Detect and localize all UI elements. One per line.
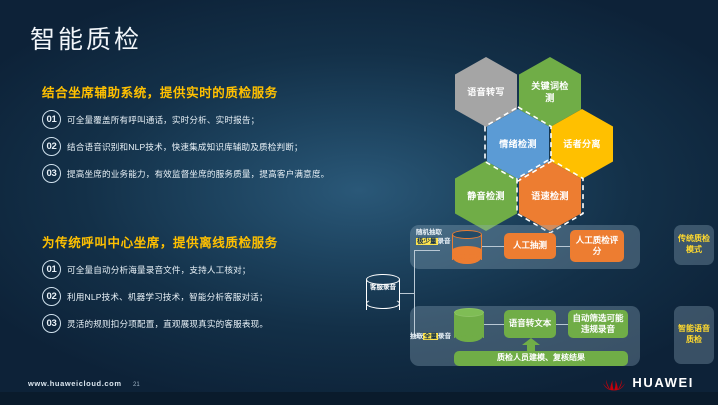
caption-prefix: 抽取 (410, 333, 423, 340)
caption-suffix: 录音 (438, 333, 451, 340)
bullet-item: 01 可全量覆盖所有呼叫通话，实时分析、实时报告； (42, 110, 372, 129)
connector-to-traditional (414, 250, 440, 251)
bullet-text: 灵活的规则扣分项配置，直观展现真实的客服表现。 (67, 318, 268, 330)
cylinder-outline (452, 230, 482, 264)
huawei-flower-icon (603, 374, 625, 391)
footer-url[interactable]: www.huaweicloud.com (28, 379, 122, 388)
bullet-number: 01 (42, 110, 61, 129)
hexagon-label: 关键词检测 (531, 80, 569, 104)
slide-root: 智能质检 结合坐席辅助系统，提供实时的质检服务 01 可全量覆盖所有呼叫通话，实… (0, 0, 718, 405)
bullet-number: 01 (42, 260, 61, 279)
bullet-text: 可全量覆盖所有呼叫通话，实时分析、实时报告； (67, 114, 259, 126)
bullet-text: 结合语音识别和NLP技术，快速集成知识库辅助及质检判断； (67, 141, 303, 153)
bullet-item: 03 提高坐席的业务能力，有效监督坐席的服务质量，提高客户满意度。 (42, 164, 372, 183)
bullet-item: 02 利用NLP技术、机器学习技术，智能分析客服对话； (42, 287, 372, 306)
badge-traditional-mode: 传统质检模式 (674, 225, 714, 265)
caption-highlight: 极少量 (416, 238, 438, 245)
step-auto-filter-violations[interactable]: 自动筛选可能违规录音 (568, 310, 628, 338)
cylinder-bottom (452, 250, 482, 259)
cylinder-outline (454, 308, 484, 342)
caption-full-volume: 抽取全量录音 (410, 330, 451, 340)
step-manual-sampling[interactable]: 人工抽测 (504, 233, 556, 259)
caption-minimal-recordings: 极少量录音 (416, 235, 451, 245)
capability-hexagon-cluster: 语音转写 关键词检测 情绪检测 话者分离 静音检测 语速检测 (447, 57, 622, 222)
connector-step1-to-step2 (556, 246, 570, 247)
bullet-number: 03 (42, 164, 61, 183)
bullet-text: 利用NLP技术、机器学习技术，智能分析客服对话； (67, 291, 268, 303)
bullet-number: 02 (42, 137, 61, 156)
source-database-icon: 客服录音 (366, 274, 400, 314)
connector-cyl-to-step1-int (484, 324, 504, 325)
bullet-text: 可全量自动分析海量录音文件，支持人工核对； (67, 264, 251, 276)
bullet-text: 提高坐席的业务能力，有效监督坐席的服务质量，提高客户满意度。 (67, 168, 329, 180)
badge-intelligent-mode: 智能语音质检 (674, 306, 714, 364)
caption-highlight: 全量 (423, 333, 438, 340)
block-heading: 为传统呼叫中心坐席，提供离线质检服务 (42, 232, 372, 251)
connector-db-stem (400, 293, 414, 294)
step-speech-to-text[interactable]: 语音转文本 (504, 310, 556, 338)
hexagon-label: 情绪检测 (499, 138, 537, 150)
caption-suffix: 录音 (438, 238, 451, 245)
page-title: 智能质检 (30, 20, 142, 56)
hexagon-label: 语速检测 (531, 190, 569, 202)
content-block-realtime: 结合坐席辅助系统，提供实时的质检服务 01 可全量覆盖所有呼叫通话，实时分析、实… (42, 82, 372, 191)
block-heading: 结合坐席辅助系统，提供实时的质检服务 (42, 82, 372, 101)
content-block-offline: 为传统呼叫中心坐席，提供离线质检服务 01 可全量自动分析海量录音文件，支持人工… (42, 232, 372, 341)
cylinder-bottom (454, 328, 484, 337)
bullet-item: 03 灵活的规则扣分项配置，直观展现真实的客服表现。 (42, 314, 372, 333)
hexagon-label: 静音检测 (467, 190, 505, 202)
connector-vertical (414, 250, 415, 336)
green-recording-cylinder (454, 308, 484, 342)
bullet-number: 02 (42, 287, 61, 306)
hexagon-label: 话者分离 (563, 138, 601, 150)
bullet-number: 03 (42, 314, 61, 333)
bar-inspector-modeling-review[interactable]: 质检人员建模、复核结果 (454, 351, 628, 366)
bullet-item: 02 结合语音识别和NLP技术，快速集成知识库辅助及质检判断； (42, 137, 372, 156)
page-number: 21 (133, 382, 140, 388)
bullet-item: 01 可全量自动分析海量录音文件，支持人工核对； (42, 260, 372, 279)
connector-cyl-to-step1 (482, 246, 504, 247)
huawei-logo: HUAWEI (603, 374, 694, 391)
footer-bar (0, 392, 718, 405)
connector-step1-to-step2-int (556, 324, 568, 325)
orange-recording-cylinder (452, 230, 482, 264)
source-database-label: 客服录音 (366, 284, 400, 292)
db-bottom-ellipse (366, 298, 400, 309)
step-manual-scoring[interactable]: 人工质检评分 (570, 230, 624, 262)
huawei-wordmark: HUAWEI (632, 375, 694, 390)
quality-inspection-flow-diagram: 传统质检模式 智能语音质检 客服录音 随机抽取 极少量录音 (358, 220, 714, 372)
hexagon-label: 语音转写 (467, 86, 505, 98)
